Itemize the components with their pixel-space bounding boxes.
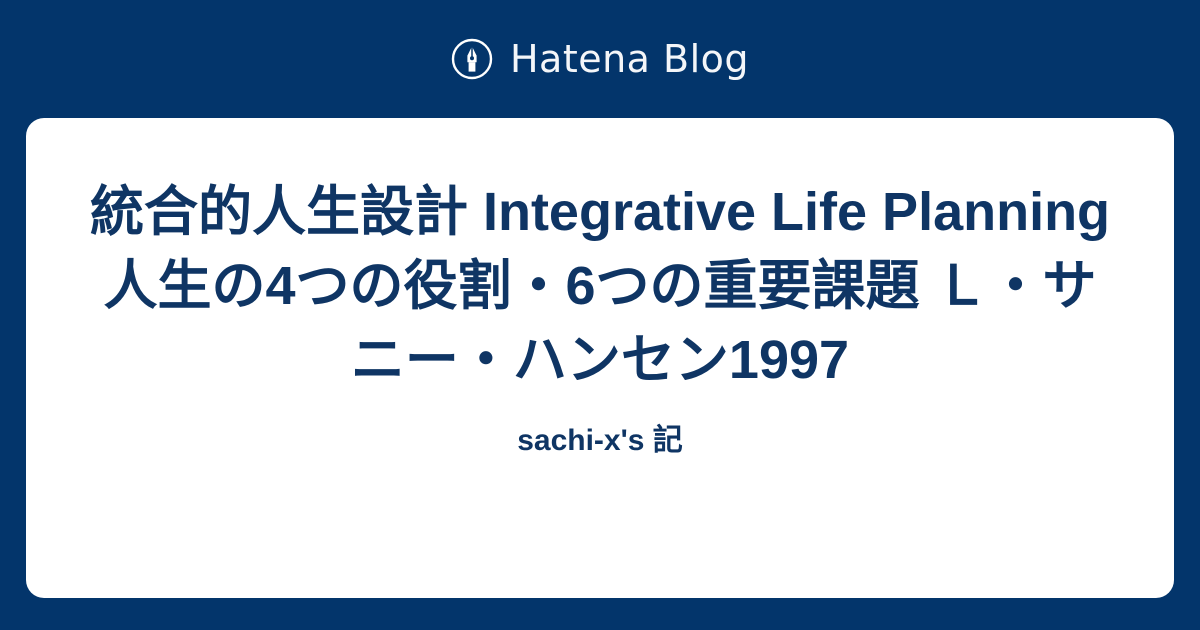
entry-title: 統合的人生設計 Integrative Life Planning人生の4つの役… (26, 175, 1174, 397)
ogp-card-root: Hatena Blog 統合的人生設計 Integrative Life Pla… (0, 0, 1200, 630)
hatena-blog-wordmark: Hatena Blog (510, 40, 749, 78)
hatena-pen-nib-icon (451, 38, 493, 80)
hatena-blog-brand-bar: Hatena Blog (0, 0, 1200, 118)
entry-card: 統合的人生設計 Integrative Life Planning人生の4つの役… (26, 118, 1174, 598)
blog-name: sachi-x's 記 (26, 421, 1174, 461)
